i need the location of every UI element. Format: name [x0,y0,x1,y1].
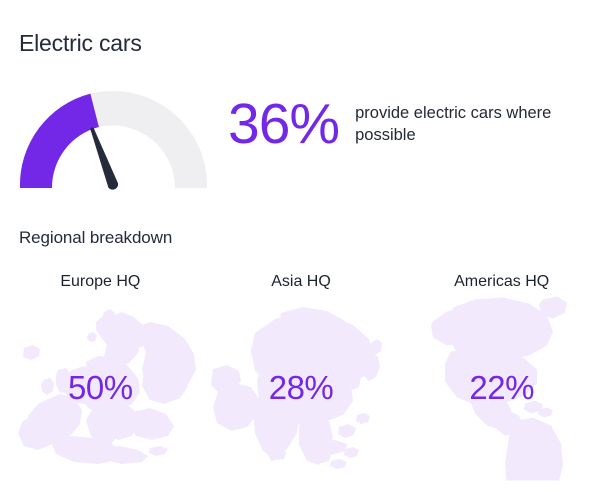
region-map-asia: 28% [201,295,402,480]
region-item-europe: Europe HQ [0,265,201,490]
regional-breakdown-list: Europe HQ [0,265,602,490]
region-percent: 28% [269,371,334,404]
region-percent: 22% [469,371,534,404]
region-item-americas: Americas HQ [401,265,602,490]
region-map-europe: 50% [0,295,201,480]
gauge-section: 36% provide electric cars where possible [0,80,602,205]
region-map-americas: 22% [401,295,602,480]
region-percent: 50% [68,371,133,404]
headline-percent: 36% [228,96,339,153]
gauge-chart [16,85,212,195]
headline-group: 36% provide electric cars where possible [228,96,565,153]
region-item-asia: Asia HQ [201,265,402,490]
regional-breakdown-heading: Regional breakdown [19,228,172,248]
page-title: Electric cars [19,30,142,57]
gauge-needle-icon [90,127,118,189]
region-label: Europe HQ [60,273,140,291]
gauge-value-arc [20,94,99,188]
electric-cars-card: Electric cars 36% provide electric cars … [0,0,602,496]
region-label: Asia HQ [271,273,331,291]
gauge-svg [16,85,212,195]
region-label: Americas HQ [454,273,549,291]
headline-description: provide electric cars where possible [355,103,565,147]
